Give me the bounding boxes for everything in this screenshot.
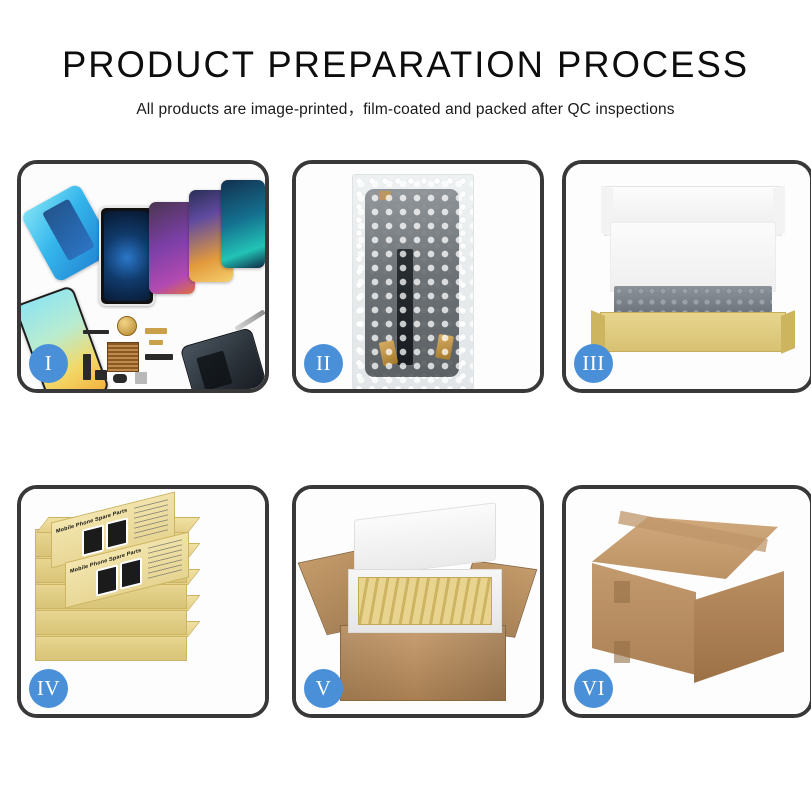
connector-chip-icon [107,342,139,372]
carton-side-face [694,571,784,683]
stacked-box-4 [35,607,187,635]
stacked-box-5 [35,633,187,661]
gold-connector-icon [145,328,167,334]
page-title: PRODUCT PREPARATION PROCESS [6,0,805,85]
step-badge-2: II [304,344,343,383]
carton-front-face [592,563,696,675]
bubble-wrapped-contents [614,286,772,314]
black-phone-display [99,206,155,306]
teal-gradient-phone [221,180,265,268]
kraft-box-tray [600,312,786,352]
carton-seal-upper [614,581,630,603]
flex-cable-icon [83,330,109,334]
bubble-wrap-sleeve [352,174,474,389]
inner-kraft-boxes [358,577,492,625]
process-step-4[interactable]: Mobile Phone Spare Parts Mobile Phone Sp… [17,485,269,718]
process-step-2[interactable]: II [292,160,544,393]
process-step-5[interactable]: V [292,485,544,718]
step-badge-5: V [304,669,343,708]
process-row-2: Mobile Phone Spare Parts Mobile Phone Sp… [0,485,811,718]
process-row-1: I II [0,160,811,393]
foam-liner [610,222,776,292]
camera-module-icon [117,316,137,336]
repair-parts-group [83,314,265,389]
screwdriver-icon [234,309,265,331]
battery-part-icon [135,372,147,384]
page-subtitle: All products are image-printed，film-coat… [0,85,811,119]
step-badge-3: III [574,344,613,383]
long-flex-icon [145,354,173,360]
process-step-3[interactable]: III [562,160,811,393]
speaker-icon [113,374,127,383]
box-art-phone-d [120,557,142,589]
step-badge-6: VI [574,669,613,708]
box-art-phone-b [106,517,128,549]
box-spec-lines-upper [134,498,168,538]
box-spec-lines-lower [148,538,182,578]
box-art-phone-a [82,524,104,556]
step-badge-4: IV [29,669,68,708]
phone-chassis [180,327,265,389]
process-step-1[interactable]: I [17,160,269,393]
step-badge-1: I [29,344,68,383]
gold-contact-icon [149,340,163,345]
box-art-phone-c [96,564,118,596]
process-step-6[interactable]: VI [562,485,811,718]
product-preparation-infographic: PRODUCT PREPARATION PROCESS All products… [0,0,811,811]
ribbon-cable-icon [83,354,91,380]
bubble-texture-overlay [353,175,473,389]
small-part-icon [95,370,107,380]
carton-body [340,625,506,701]
carton-seal-lower [614,641,630,663]
header: PRODUCT PREPARATION PROCESS All products… [0,0,811,119]
process-grid: I II [0,160,811,718]
